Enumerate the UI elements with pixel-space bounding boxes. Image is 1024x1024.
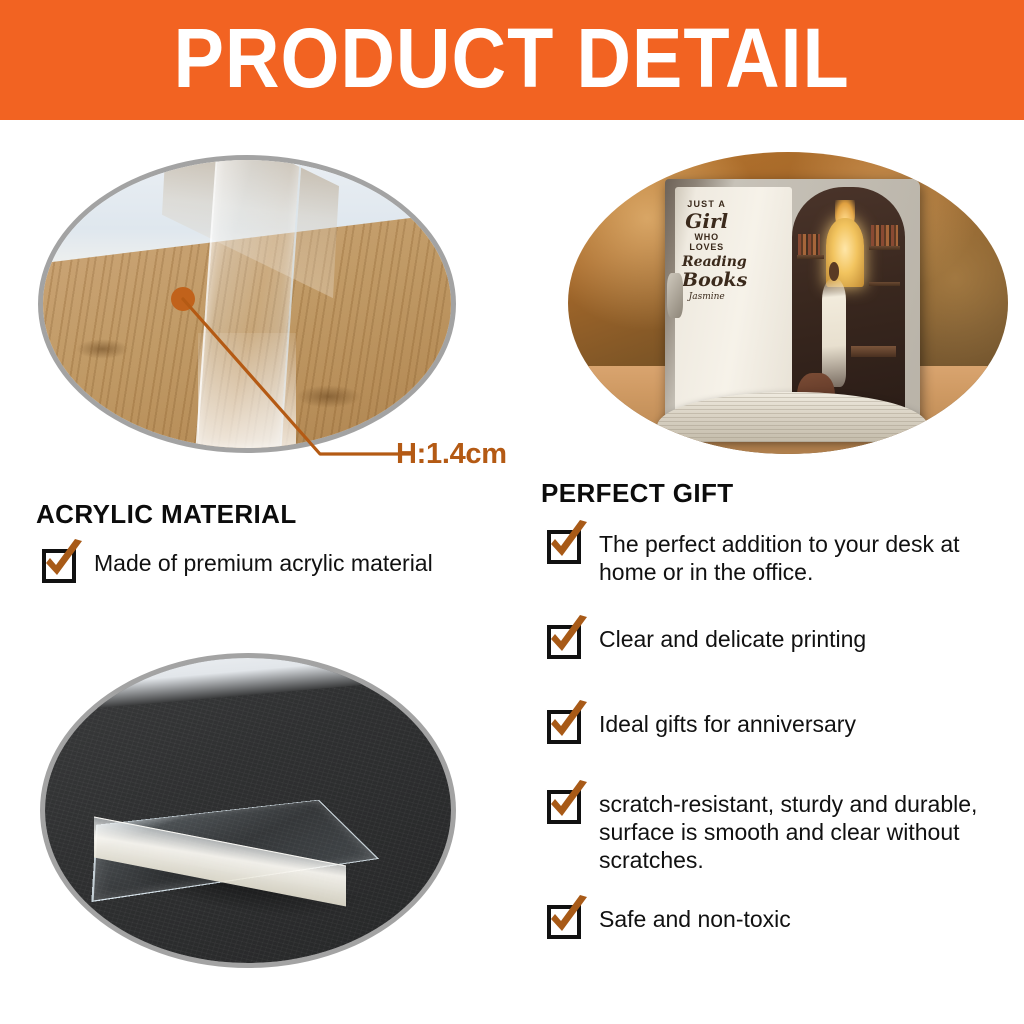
feature-item-premium-acrylic: Made of premium acrylic material — [40, 543, 510, 583]
book-nook-interior — [792, 187, 904, 415]
bookshelf — [797, 255, 824, 259]
shelf-books — [798, 234, 820, 255]
quote-line-5: Books — [682, 270, 731, 290]
wood-knot — [76, 339, 129, 359]
book-clasp — [667, 273, 682, 318]
height-label: H:1.4cm — [396, 438, 507, 471]
product-photo: JUST A Girl WHO LOVES Reading Books Jasm… — [568, 152, 1008, 454]
quote-line-4: Reading — [682, 255, 731, 270]
miniature-desk — [851, 346, 896, 357]
quote-line-2: Girl — [682, 211, 731, 232]
section-title-perfect-gift: PERFECT GIFT — [541, 478, 734, 509]
page-title: PRODUCT DETAIL — [174, 16, 850, 100]
callout-leader-line — [183, 299, 410, 454]
acrylic-block-photo — [40, 653, 456, 968]
height-callout — [150, 280, 410, 470]
shelf-books — [871, 225, 898, 246]
figurine-head — [829, 262, 839, 281]
header-bar: PRODUCT DETAIL — [0, 0, 1024, 120]
feature-item-anniversary-gift: Ideal gifts for anniversary — [545, 704, 1015, 744]
girl-figurine — [822, 278, 847, 387]
personalized-name: Jasmine — [682, 293, 731, 303]
book-left-page: JUST A Girl WHO LOVES Reading Books Jasm… — [675, 187, 792, 415]
bookshelf — [869, 246, 900, 250]
feature-label: Ideal gifts for anniversary — [599, 710, 856, 738]
bookshelf — [869, 282, 900, 286]
feature-label: Safe and non-toxic — [599, 905, 791, 933]
feature-label: The perfect addition to your desk at hom… — [599, 530, 1015, 586]
feature-item-desk-addition: The perfect addition to your desk at hom… — [545, 524, 1015, 586]
checkbox-checked-icon — [545, 619, 585, 659]
feature-item-scratch-resistant: scratch-resistant, sturdy and durable, s… — [545, 784, 1015, 874]
checkbox-checked-icon — [545, 704, 585, 744]
book-nook-ornament: JUST A Girl WHO LOVES Reading Books Jasm… — [665, 179, 920, 427]
quote-line-1: JUST A — [682, 200, 731, 210]
feature-label: Made of premium acrylic material — [94, 549, 433, 577]
checkbox-checked-icon — [40, 543, 80, 583]
quote-line-3: WHO LOVES — [682, 233, 731, 252]
feature-item-clear-printing: Clear and delicate printing — [545, 619, 1015, 659]
checkbox-checked-icon — [545, 899, 585, 939]
section-title-acrylic-material: ACRYLIC MATERIAL — [36, 499, 297, 530]
checkbox-checked-icon — [545, 524, 585, 564]
feature-label: scratch-resistant, sturdy and durable, s… — [599, 790, 1015, 874]
checkbox-checked-icon — [545, 784, 585, 824]
feature-label: Clear and delicate printing — [599, 625, 866, 653]
engraved-quote: JUST A Girl WHO LOVES Reading Books Jasm… — [682, 200, 731, 302]
feature-item-safe-non-toxic: Safe and non-toxic — [545, 899, 1015, 939]
